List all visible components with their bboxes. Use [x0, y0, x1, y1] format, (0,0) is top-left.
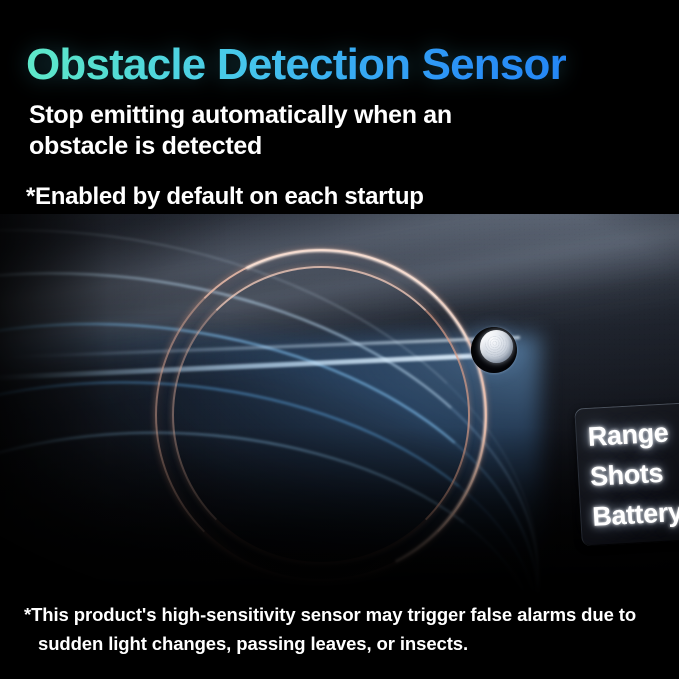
plaque-item-battery: Battery: [591, 490, 679, 536]
disclaimer-line-2: sudden light changes, passing leaves, or…: [24, 629, 664, 658]
photo-vignette: [0, 214, 679, 594]
disclaimer-note: *This product's high-sensitivity sensor …: [24, 600, 664, 658]
feature-plaque: Range Shots Battery: [574, 402, 679, 547]
default-enabled-note: *Enabled by default on each startup: [26, 183, 424, 211]
plaque-item-range: Range: [587, 411, 679, 457]
product-photo: Range Shots Battery: [0, 214, 679, 594]
product-feature-graphic: Range Shots Battery Obstacle Detection S…: [0, 0, 679, 679]
subtitle: Stop emitting automatically when an obst…: [29, 100, 569, 162]
plaque-item-shots: Shots: [589, 450, 679, 496]
page-title: Obstacle Detection Sensor: [26, 40, 566, 90]
disclaimer-line-1: *This product's high-sensitivity sensor …: [24, 604, 636, 625]
subtitle-line-2: obstacle is detected: [29, 132, 262, 160]
subtitle-line-1: Stop emitting automatically when an: [29, 101, 452, 129]
